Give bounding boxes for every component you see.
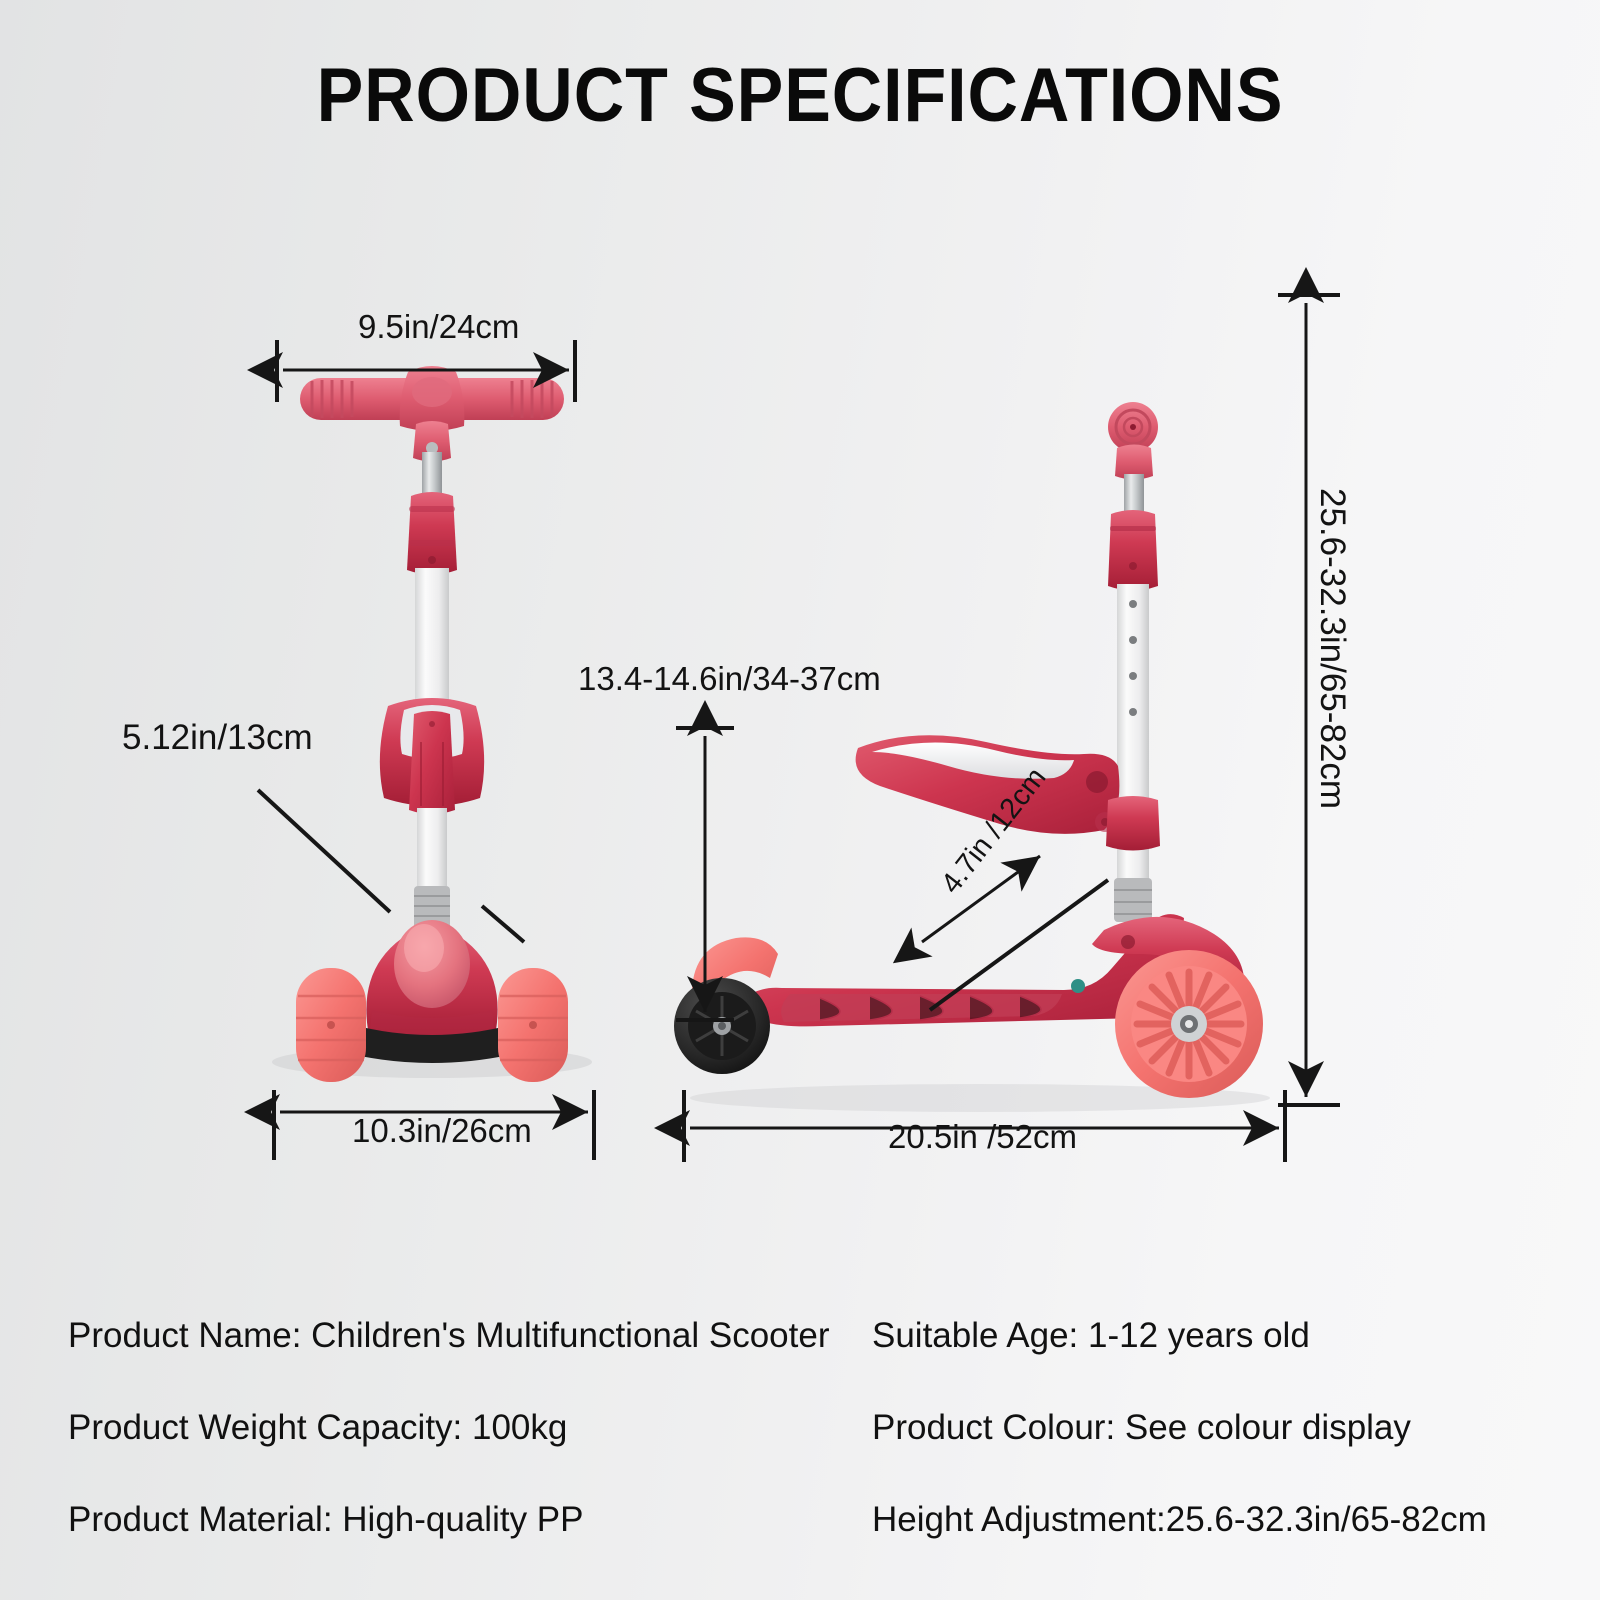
- side-rear-wheel: [1115, 950, 1263, 1098]
- front-height-collar: [407, 492, 457, 575]
- dim-label-wheel-track: 10.3in/26cm: [352, 1112, 532, 1150]
- spec-column-right: Suitable Age: 1-12 years old Product Col…: [872, 1318, 1487, 1594]
- front-deck-dome: [366, 920, 497, 1040]
- front-wheel-right: [498, 968, 568, 1082]
- dim-label-total-length: 20.5in /52cm: [888, 1118, 1077, 1156]
- spec-weight-capacity: Product Weight Capacity: 100kg: [68, 1410, 829, 1445]
- specification-list: Product Name: Children's Multifunctional…: [0, 1318, 1600, 1548]
- spec-product-name: Product Name: Children's Multifunctional…: [68, 1318, 829, 1353]
- side-front-wheel: [674, 937, 778, 1074]
- scooter-side-view: [674, 402, 1270, 1112]
- front-wheel-left: [296, 968, 366, 1082]
- dim-label-handlebar-width: 9.5in/24cm: [358, 308, 519, 346]
- dim-front-deck-leaders: [258, 790, 524, 942]
- spec-column-left: Product Name: Children's Multifunctional…: [68, 1318, 829, 1594]
- spec-height-adjustment: Height Adjustment:25.6-32.3in/65-82cm: [872, 1502, 1487, 1537]
- spec-product-colour: Product Colour: See colour display: [872, 1410, 1487, 1445]
- dim-label-total-height: 25.6-32.3in/65-82cm: [1312, 488, 1352, 809]
- spec-material: Product Material: High-quality PP: [68, 1502, 829, 1537]
- spec-suitable-age: Suitable Age: 1-12 years old: [872, 1318, 1487, 1353]
- dim-label-deck-height: 13.4-14.6in/34-37cm: [578, 660, 881, 698]
- side-handlebar-grip: [1108, 402, 1158, 480]
- dim-label-deck-callout: 5.12in/13cm: [122, 718, 313, 758]
- side-bellows: [1114, 878, 1152, 922]
- front-seat: [380, 698, 484, 814]
- front-handlebar: [300, 366, 564, 462]
- side-height-collar: [1108, 510, 1158, 591]
- scooter-front-view: [272, 366, 592, 1082]
- product-specification-page: PRODUCT SPECIFICATIONS: [0, 0, 1600, 1600]
- scooter-illustration-stage: 9.5in/24cm 10.3in/26cm 5.12in/13cm 13.4-…: [0, 0, 1600, 1260]
- scooter-diagram-svg: [0, 0, 1600, 1260]
